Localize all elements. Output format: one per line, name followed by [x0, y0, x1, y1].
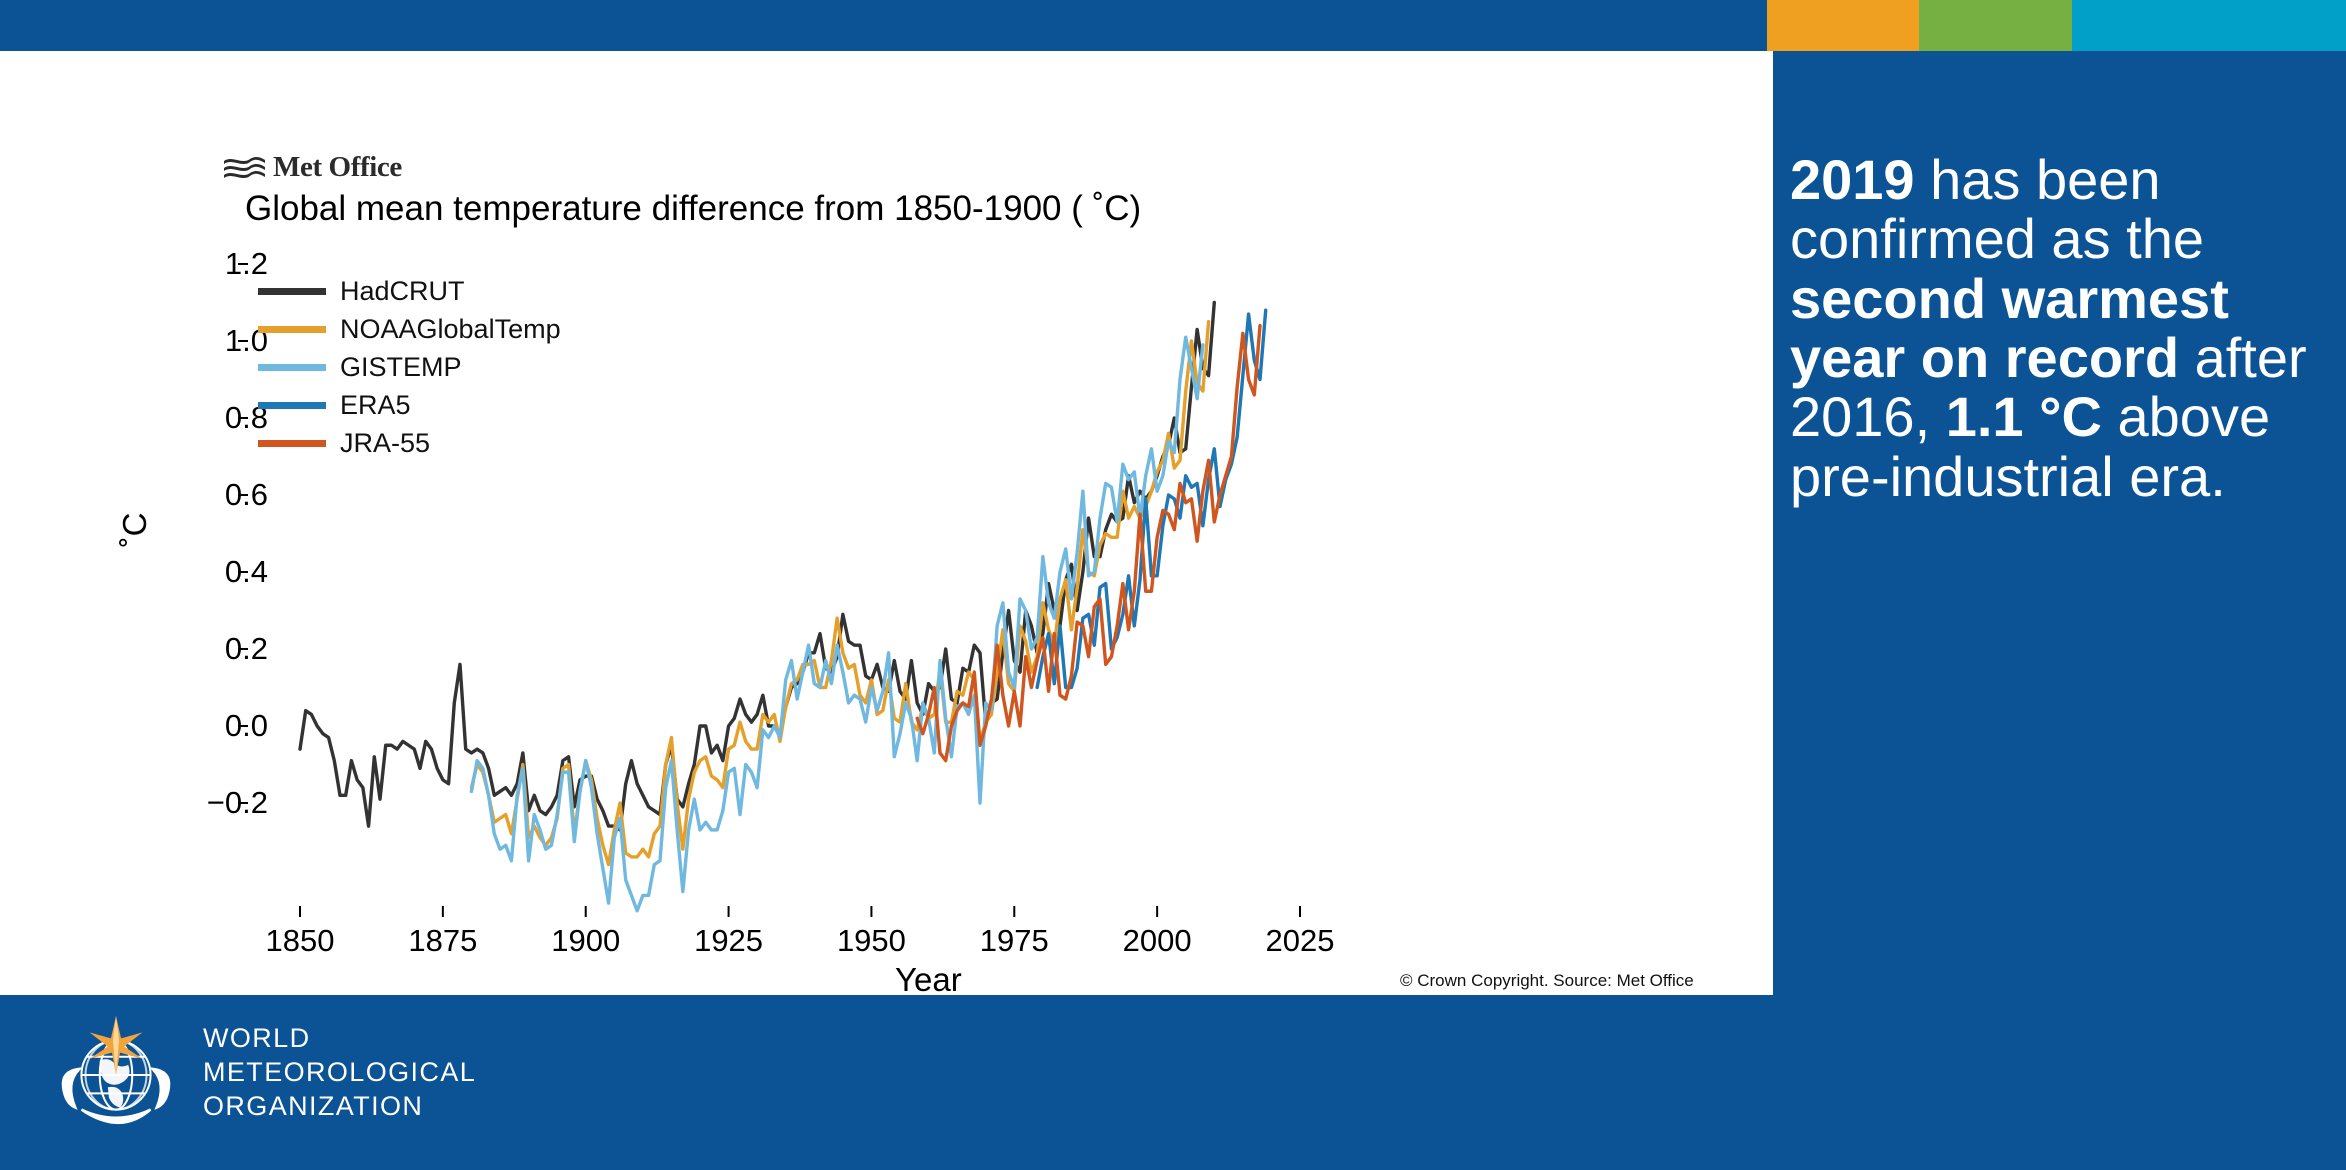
legend-swatch — [258, 326, 326, 333]
headline-part-2: second warmest year on record — [1790, 267, 2229, 389]
y-tick-label: 0.4 — [225, 554, 268, 590]
x-tick-label: 1900 — [551, 923, 620, 959]
legend-item-era5: ERA5 — [258, 390, 411, 421]
legend-item-jra-55: JRA-55 — [258, 428, 430, 459]
legend-label: ERA5 — [340, 390, 411, 421]
wmo-wordmark: WORLD METEOROLOGICAL ORGANIZATION — [203, 1022, 476, 1123]
wmo-line-3: ORGANIZATION — [203, 1090, 476, 1124]
chart-panel: Met Office Global mean temperature diffe… — [0, 51, 1773, 995]
legend-item-hadcrut: HadCRUT — [258, 276, 465, 307]
legend-label: JRA-55 — [340, 428, 430, 459]
orange-segment — [1767, 0, 1919, 51]
legend-label: NOAAGlobalTemp — [340, 314, 561, 345]
blue-segment — [0, 0, 1767, 51]
x-tick-label: 2000 — [1123, 923, 1192, 959]
wmo-line-1: WORLD — [203, 1022, 476, 1056]
x-tick-label: 1950 — [837, 923, 906, 959]
y-tick-label: 0.2 — [225, 631, 268, 667]
legend-item-gistemp: GISTEMP — [258, 352, 462, 383]
y-tick-label: −0.2 — [207, 785, 268, 821]
legend-swatch — [258, 440, 326, 447]
wmo-logo: WORLD METEOROLOGICAL ORGANIZATION — [55, 1012, 476, 1134]
headline-part-0: 2019 — [1790, 148, 1915, 211]
y-tick-label: 0.0 — [225, 708, 268, 744]
series-line-jra-55 — [917, 326, 1260, 761]
wmo-emblem-icon — [55, 1012, 177, 1134]
headline-text: 2019 has been confirmed as the second wa… — [1790, 150, 2335, 506]
y-axis-ticks: −0.20.00.20.40.60.81.01.2 — [0, 51, 268, 995]
wmo-line-2: METEOROLOGICAL — [203, 1056, 476, 1090]
top-color-bar — [0, 0, 2346, 51]
infographic-root: Met Office Global mean temperature diffe… — [0, 0, 2346, 1170]
legend-swatch — [258, 288, 326, 295]
y-tick-label: 0.6 — [225, 477, 268, 513]
cyan-segment — [2072, 0, 2346, 51]
legend-item-noaaglobaltemp: NOAAGlobalTemp — [258, 314, 561, 345]
headline-part-4: 1.1 °C — [1946, 385, 2102, 448]
legend-label: HadCRUT — [340, 276, 465, 307]
x-tick-label: 1850 — [266, 923, 335, 959]
x-tick-label: 1875 — [408, 923, 477, 959]
legend-swatch — [258, 364, 326, 371]
x-tick-label: 2025 — [1266, 923, 1335, 959]
green-segment — [1919, 0, 2072, 51]
legend-label: GISTEMP — [340, 352, 462, 383]
x-tick-label: 1975 — [980, 923, 1049, 959]
x-tick-label: 1925 — [694, 923, 763, 959]
legend-swatch — [258, 402, 326, 409]
